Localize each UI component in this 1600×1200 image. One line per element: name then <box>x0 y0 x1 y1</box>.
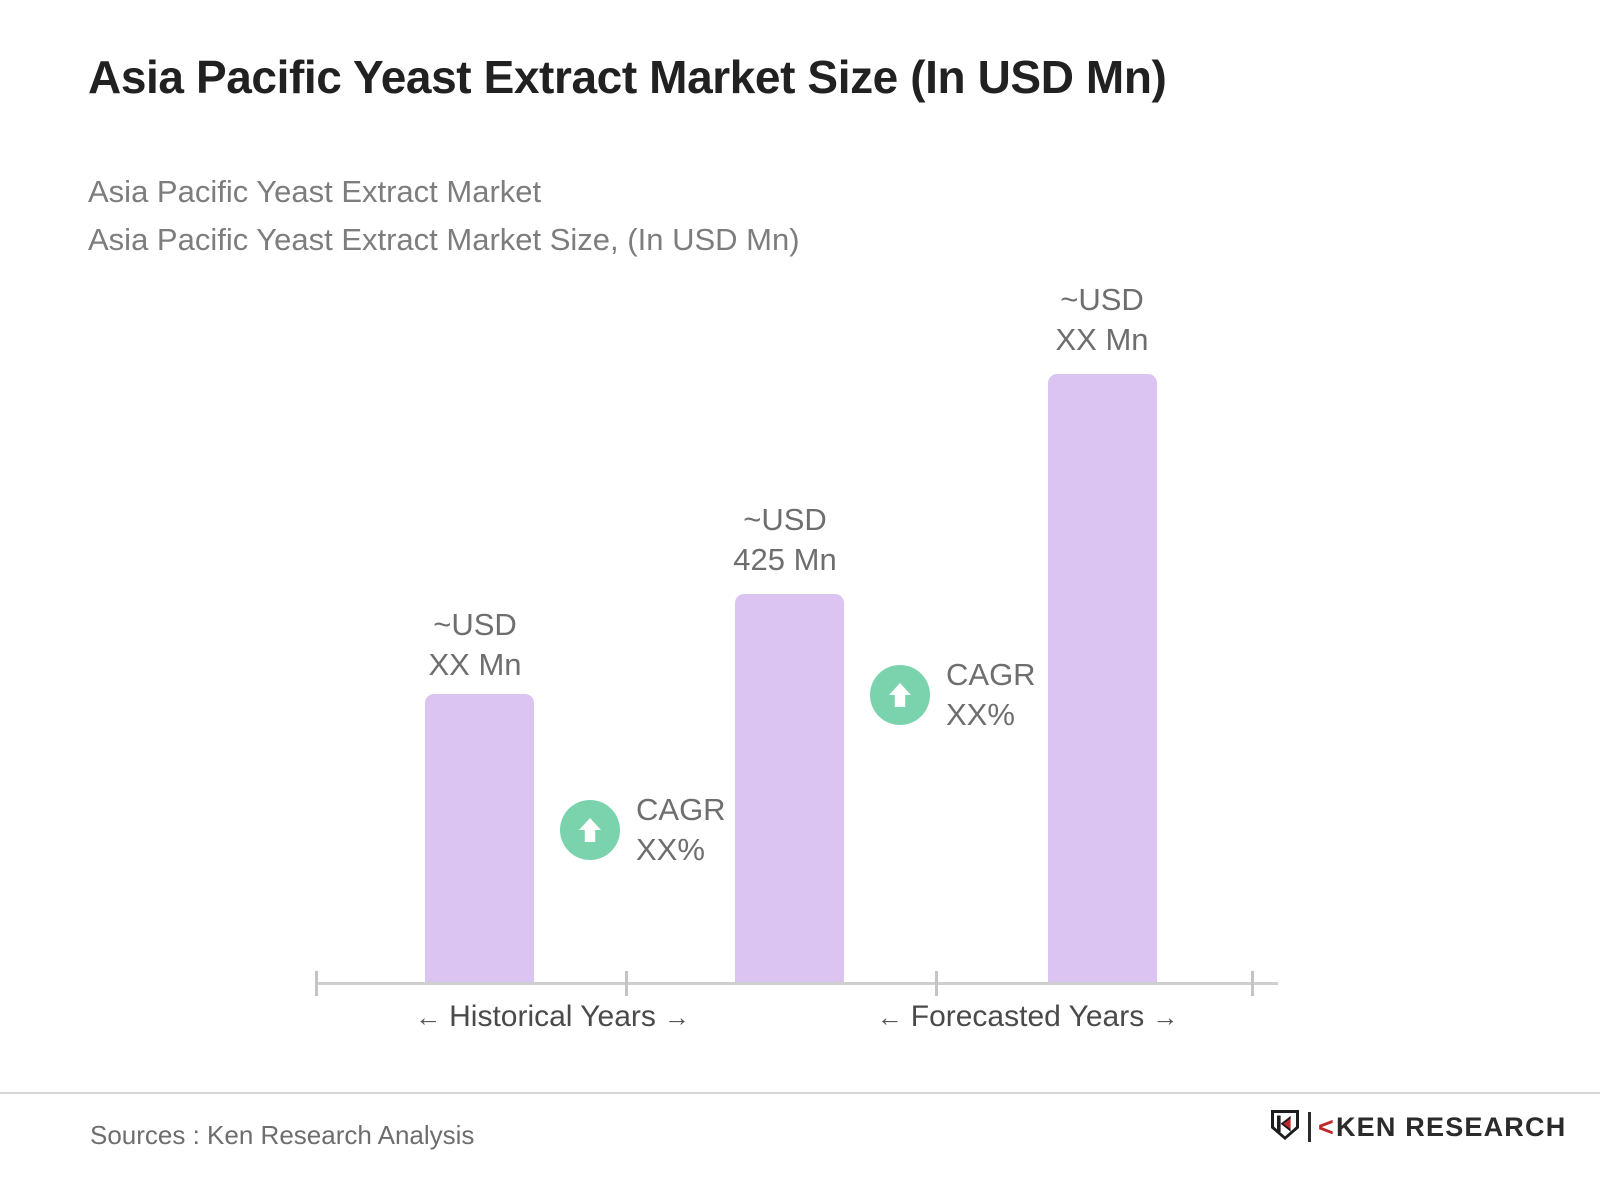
subtitle-line-2: Asia Pacific Yeast Extract Market Size, … <box>88 216 800 264</box>
page-subtitle: Asia Pacific Yeast Extract Market Asia P… <box>88 168 800 264</box>
axis-tick-2 <box>935 971 938 996</box>
cagr-badge-2-text: CAGR XX% <box>946 655 1036 734</box>
logo-chevron-icon: < <box>1318 1112 1335 1143</box>
x-axis-line <box>315 982 1278 985</box>
footer-divider <box>0 1092 1600 1094</box>
axis-segment-forecasted: ←Forecasted Years→ <box>790 1000 1265 1034</box>
bar-forecast-year[interactable] <box>1048 374 1157 982</box>
logo-shield-icon <box>1268 1108 1302 1147</box>
bar-label-forecast-year: ~USD XX Mn <box>982 280 1222 359</box>
bar-historical-year[interactable] <box>425 694 534 982</box>
arrow-left-icon: ← <box>407 1002 449 1032</box>
logo-wordmark-lead: K <box>1336 1112 1357 1143</box>
arrow-up-icon <box>560 800 620 860</box>
logo-divider <box>1308 1112 1311 1142</box>
page-title: Asia Pacific Yeast Extract Market Size (… <box>88 50 1166 104</box>
logo-wordmark: <KEN RESEARCH <box>1318 1112 1566 1143</box>
axis-segment-labels: ←Historical Years→ ←Forecasted Years→ <box>290 1000 1290 1034</box>
subtitle-line-1: Asia Pacific Yeast Extract Market <box>88 168 800 216</box>
bar-label-historical-year: ~USD XX Mn <box>355 605 595 684</box>
ken-research-logo[interactable]: <KEN RESEARCH <box>1268 1107 1566 1147</box>
sources-text: Sources : Ken Research Analysis <box>90 1120 474 1151</box>
bar-base-year[interactable] <box>735 594 844 982</box>
bar-label-base-year: ~USD 425 Mn <box>665 500 905 579</box>
arrow-left-icon: ← <box>869 1002 911 1032</box>
cagr-badge-1-text: CAGR XX% <box>636 790 726 869</box>
axis-segment-historical-label: Historical Years <box>449 1000 656 1033</box>
arrow-up-icon <box>870 665 930 725</box>
cagr-badge-1: CAGR XX% <box>560 790 726 869</box>
axis-segment-historical: ←Historical Years→ <box>290 1000 790 1034</box>
axis-tick-1 <box>625 971 628 996</box>
arrow-right-icon: → <box>656 1002 698 1032</box>
bar-chart-plot-area: ~USD XX Mn CAGR XX% ~USD 425 Mn CAGR XX% <box>290 260 1290 985</box>
axis-tick-0 <box>315 971 318 996</box>
axis-segment-forecasted-label: Forecasted Years <box>911 1000 1144 1033</box>
logo-wordmark-rest: EN RESEARCH <box>1357 1112 1567 1143</box>
slide-canvas: Asia Pacific Yeast Extract Market Size (… <box>0 0 1600 1200</box>
axis-tick-3 <box>1251 971 1254 996</box>
cagr-badge-2: CAGR XX% <box>870 655 1036 734</box>
arrow-right-icon: → <box>1144 1002 1186 1032</box>
